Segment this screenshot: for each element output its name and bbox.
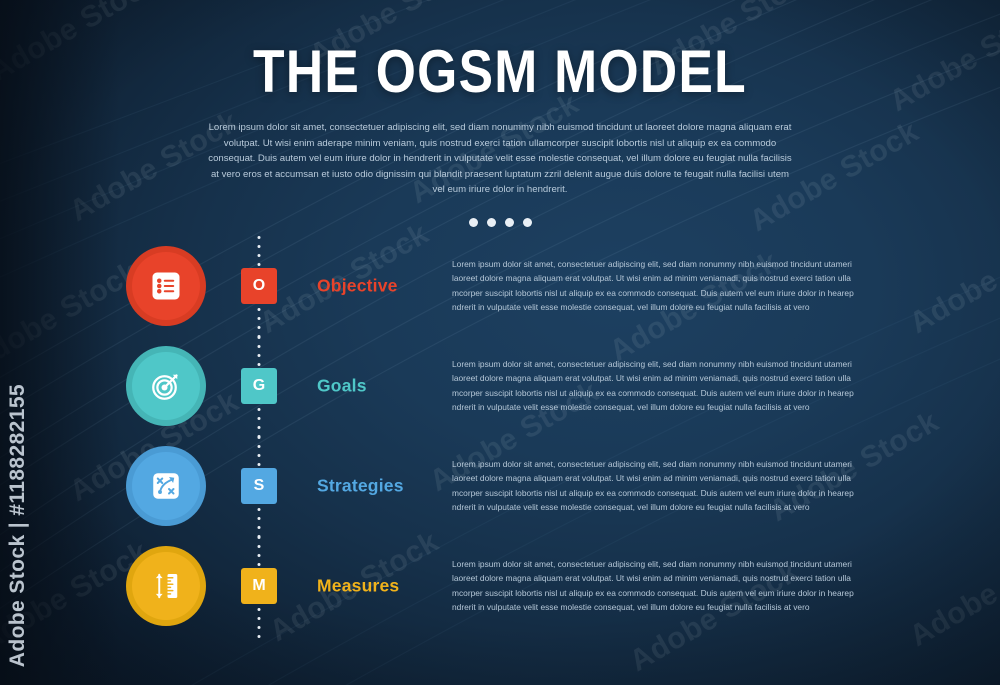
ogsm-label: Measures: [317, 576, 399, 597]
dot-indicator: [523, 218, 532, 227]
dot-indicators: [0, 218, 1000, 227]
ogsm-row[interactable]: S Strategies Lorem ipsum dolor sit amet,…: [0, 436, 1000, 536]
rail-dot: [258, 626, 261, 629]
rail-dot: [258, 254, 261, 257]
ogsm-icon-badge[interactable]: [126, 346, 206, 426]
rail-dot: [258, 445, 261, 448]
infographic-canvas: Adobe Stock Adobe Stock Adobe Stock Adob…: [0, 0, 1000, 685]
rail-dot: [258, 454, 261, 457]
ogsm-letter-chip[interactable]: O: [241, 268, 277, 304]
ogsm-icon-badge[interactable]: [126, 446, 206, 526]
rail-dot: [258, 336, 261, 339]
ogsm-icon-badge[interactable]: [126, 246, 206, 326]
rail-dot: [258, 608, 261, 611]
ogsm-row[interactable]: M Measures Lorem ipsum dolor sit amet, c…: [0, 536, 1000, 636]
ogsm-letter: G: [253, 377, 265, 395]
ogsm-description: Lorem ipsum dolor sit amet, consectetuer…: [452, 257, 876, 315]
ogsm-rows: O Objective Lorem ipsum dolor sit amet, …: [0, 236, 1000, 636]
ruler-icon: [148, 568, 184, 604]
rail-dot: [258, 317, 261, 320]
rail-dot: [258, 563, 261, 566]
target-icon: [148, 368, 184, 404]
rail-dot: [258, 354, 261, 357]
rail-dot: [258, 463, 261, 466]
rail-dot: [258, 554, 261, 557]
ogsm-letter: S: [254, 477, 265, 495]
checklist-icon: [148, 268, 184, 304]
ogsm-description: Lorem ipsum dolor sit amet, consectetuer…: [452, 557, 876, 615]
rail-dot: [258, 545, 261, 548]
ogsm-row[interactable]: O Objective Lorem ipsum dolor sit amet, …: [0, 236, 1000, 336]
ogsm-description: Lorem ipsum dolor sit amet, consectetuer…: [452, 457, 876, 515]
rail-dot: [258, 408, 261, 411]
rail-dot: [258, 363, 261, 366]
ogsm-letter-chip[interactable]: M: [241, 568, 277, 604]
rail-dot: [258, 236, 261, 239]
rail-dot: [258, 326, 261, 329]
rail-dot: [258, 345, 261, 348]
rail-dot: [258, 635, 261, 638]
rail-dot: [258, 517, 261, 520]
ogsm-row[interactable]: G Goals Lorem ipsum dolor sit amet, cons…: [0, 336, 1000, 436]
ogsm-label: Goals: [317, 376, 367, 397]
dot-indicator: [505, 218, 514, 227]
page-title: THE OGSM MODEL: [70, 0, 930, 102]
ogsm-letter-chip[interactable]: G: [241, 368, 277, 404]
rail-dot: [258, 308, 261, 311]
ogsm-label: Strategies: [317, 476, 404, 497]
rail-dot: [258, 245, 261, 248]
ogsm-icon-badge[interactable]: [126, 546, 206, 626]
ogsm-letter: O: [253, 277, 265, 295]
rail-dot: [258, 436, 261, 439]
page-subtitle: Lorem ipsum dolor sit amet, consectetuer…: [205, 120, 795, 198]
dot-indicator: [469, 218, 478, 227]
rail-dot: [258, 526, 261, 529]
rail-dot: [258, 508, 261, 511]
ogsm-letter: M: [252, 577, 265, 595]
rail-dot: [258, 417, 261, 420]
strategy-icon: [148, 468, 184, 504]
header: THE OGSM MODEL Lorem ipsum dolor sit ame…: [0, 0, 1000, 227]
rail-dot: [258, 426, 261, 429]
rail-dot: [258, 263, 261, 266]
ogsm-label: Objective: [317, 276, 398, 297]
ogsm-description: Lorem ipsum dolor sit amet, consectetuer…: [452, 357, 876, 415]
rail-dot: [258, 536, 261, 539]
ogsm-letter-chip[interactable]: S: [241, 468, 277, 504]
rail-dot: [258, 617, 261, 620]
dot-indicator: [487, 218, 496, 227]
